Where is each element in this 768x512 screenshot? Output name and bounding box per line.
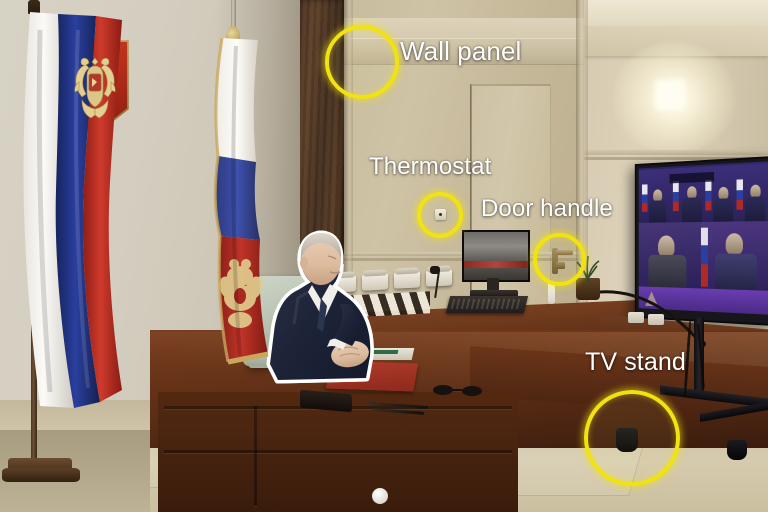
highlight-circle-thermostat <box>417 192 463 238</box>
vc-tile <box>639 169 671 223</box>
wall-sconce <box>655 80 685 110</box>
highlight-circle-wall-panel <box>325 25 399 99</box>
annotation-label-thermostat: Thermostat <box>369 155 491 179</box>
presidential-standard-flag <box>198 36 280 366</box>
right-wall-rail <box>584 150 768 155</box>
annotation-label-wall-panel: Wall panel <box>400 38 521 64</box>
desk-panel-groove <box>254 406 257 506</box>
vc-tile <box>701 221 768 293</box>
highlight-circle-door-handle <box>533 233 586 286</box>
vc-tile <box>639 222 701 290</box>
double-headed-eagle-icon <box>72 52 118 122</box>
vc-caption-banner <box>670 172 715 183</box>
flag-base-left-plate <box>2 468 80 482</box>
annotation-label-tv-stand: TV stand <box>585 350 686 375</box>
vc-tile <box>736 163 768 221</box>
desk-knob <box>372 488 388 504</box>
desk-telephone[interactable] <box>394 271 420 288</box>
eyeglasses <box>432 384 484 396</box>
right-wall-upper-band <box>584 0 768 26</box>
monitor-image-band <box>464 261 528 268</box>
microphone-head <box>430 266 440 274</box>
desk-panel-groove <box>164 450 512 453</box>
monitor-image <box>464 232 528 280</box>
desktop-monitor[interactable] <box>462 230 530 282</box>
highlight-circle-tv-stand <box>584 390 680 486</box>
keyboard-keys <box>451 299 523 309</box>
tv-stand-caster-wheel <box>727 440 747 460</box>
annotation-label-door-handle: Door handle <box>481 197 613 221</box>
annotated-screenshot: Wall panelThermostatDoor handleTV stand <box>0 0 768 512</box>
